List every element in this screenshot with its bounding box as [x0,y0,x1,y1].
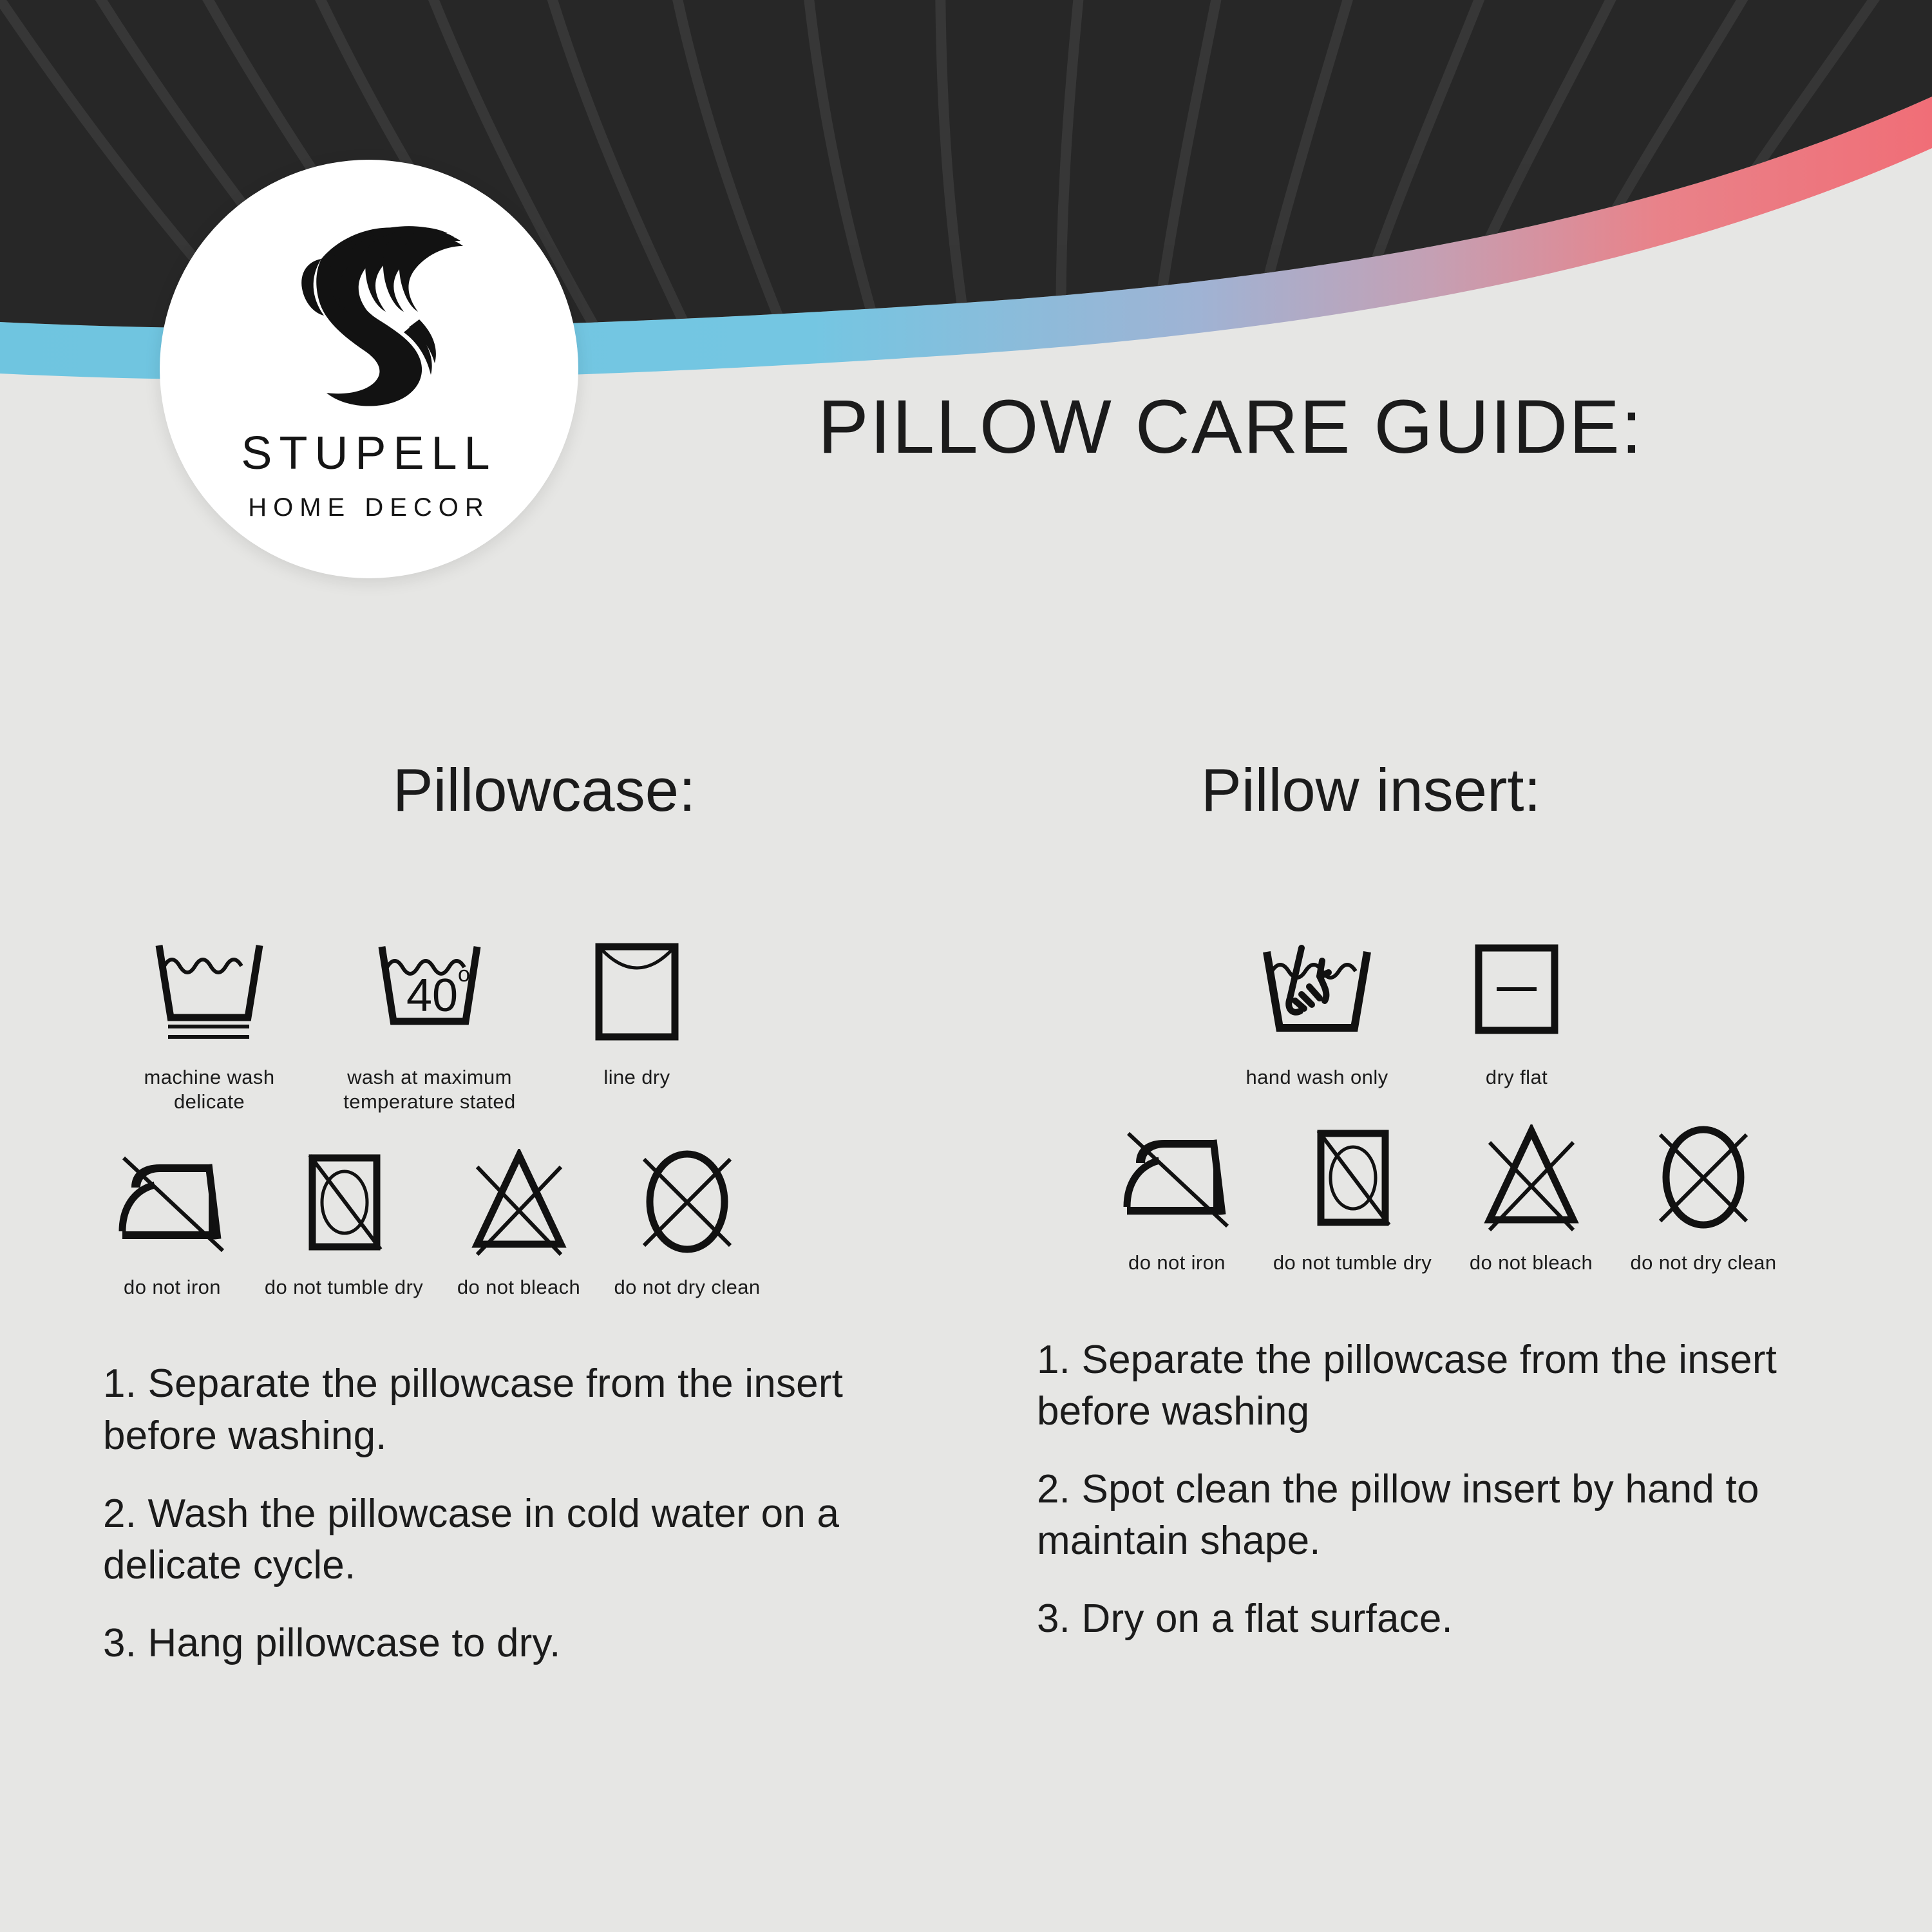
pillow-insert-steps-list: 1. Separate the pillowcase from the inse… [1037,1334,1900,1645]
symbol-wash-max-temperature: 40 o wash at maximum temperature stated [336,926,523,1114]
dry-flat-icon [1468,939,1565,1048]
symbol-label: do not tumble dry [265,1275,423,1300]
brand-tagline: HOME DECOR [248,495,490,520]
symbol-line-dry: line dry [569,926,705,1090]
pillow-insert-symbol-row-1: hand wash only dry flat [1037,926,1926,1090]
do-not-iron-icon [1119,1124,1235,1234]
pillowcase-section: Pillowcase: machine wash delicate [103,760,940,1695]
symbol-label: do not tumble dry [1273,1251,1432,1275]
symbol-label: do not dry clean [614,1275,761,1300]
brand-logo-badge: STUPELL HOME DECOR [160,160,578,578]
care-guide-page: STUPELL HOME DECOR PILLOW CARE GUIDE: Pi… [0,0,1932,1932]
symbol-label: do not bleach [1470,1251,1593,1275]
symbol-dry-flat: dry flat [1449,926,1584,1090]
line-dry-icon [589,939,685,1048]
symbol-machine-wash-delicate: machine wash delicate [129,926,290,1114]
symbol-do-not-bleach: do not bleach [446,1136,591,1300]
step-item: 3. Hang pillowcase to dry. [103,1618,934,1670]
step-item: 1. Separate the pillowcase from the inse… [1037,1334,1900,1438]
symbol-do-not-iron: do not iron [103,1136,241,1300]
symbol-label: do not iron [124,1275,221,1300]
do-not-dry-clean-icon [632,1149,742,1258]
symbol-do-not-dry-clean: do not dry clean [607,1136,768,1300]
pillow-insert-heading: Pillow insert: [1037,760,1926,857]
symbol-label: do not dry clean [1631,1251,1777,1275]
do-not-tumble-dry-icon [1304,1124,1401,1234]
degree-symbol: o [458,962,470,987]
pillow-insert-symbol-row-2: do not iron do not tumble dry [1037,1112,1926,1275]
pillowcase-steps-list: 1. Separate the pillowcase from the inse… [103,1358,934,1669]
symbol-do-not-tumble-dry: do not tumble dry [1265,1112,1439,1275]
page-title: PILLOW CARE GUIDE: [818,383,1643,471]
do-not-tumble-dry-icon [296,1149,392,1258]
symbol-label: wash at maximum temperature stated [343,1065,515,1114]
symbol-do-not-dry-clean: do not dry clean [1623,1112,1784,1275]
symbol-do-not-bleach: do not bleach [1459,1112,1604,1275]
symbol-label: line dry [603,1065,670,1090]
symbol-label: do not iron [1128,1251,1226,1275]
symbol-do-not-iron: do not iron [1108,1112,1246,1275]
do-not-bleach-icon [464,1149,574,1258]
step-item: 3. Dry on a flat surface. [1037,1593,1900,1645]
symbol-label: hand wash only [1245,1065,1388,1090]
symbol-label: do not bleach [457,1275,580,1300]
wash-max-temperature-40-icon: 40 o [368,939,491,1048]
brand-name: STUPELL [241,430,497,477]
step-item: 1. Separate the pillowcase from the inse… [103,1358,934,1462]
step-item: 2. Spot clean the pillow insert by hand … [1037,1464,1900,1567]
do-not-dry-clean-icon [1649,1124,1758,1234]
do-not-bleach-icon [1477,1124,1586,1234]
symbol-hand-wash-only: hand wash only [1230,926,1404,1090]
do-not-iron-icon [115,1149,231,1258]
wash-temperature-value: 40 [406,970,458,1021]
symbol-do-not-tumble-dry: do not tumble dry [257,1136,431,1300]
pillowcase-symbol-row-2: do not iron do not tumble dry [103,1136,940,1300]
pillowcase-heading: Pillowcase: [103,760,940,857]
hand-wash-only-icon [1253,939,1381,1048]
stupell-swoosh-s-logo-icon [260,206,478,419]
pillowcase-symbol-row-1: machine wash delicate 40 o wash at maxim… [103,926,940,1114]
machine-wash-delicate-icon [147,939,271,1048]
pillow-insert-section: Pillow insert: [1037,760,1926,1671]
symbol-label: dry flat [1486,1065,1548,1090]
symbol-label: machine wash delicate [144,1065,275,1114]
step-item: 2. Wash the pillowcase in cold water on … [103,1488,934,1592]
